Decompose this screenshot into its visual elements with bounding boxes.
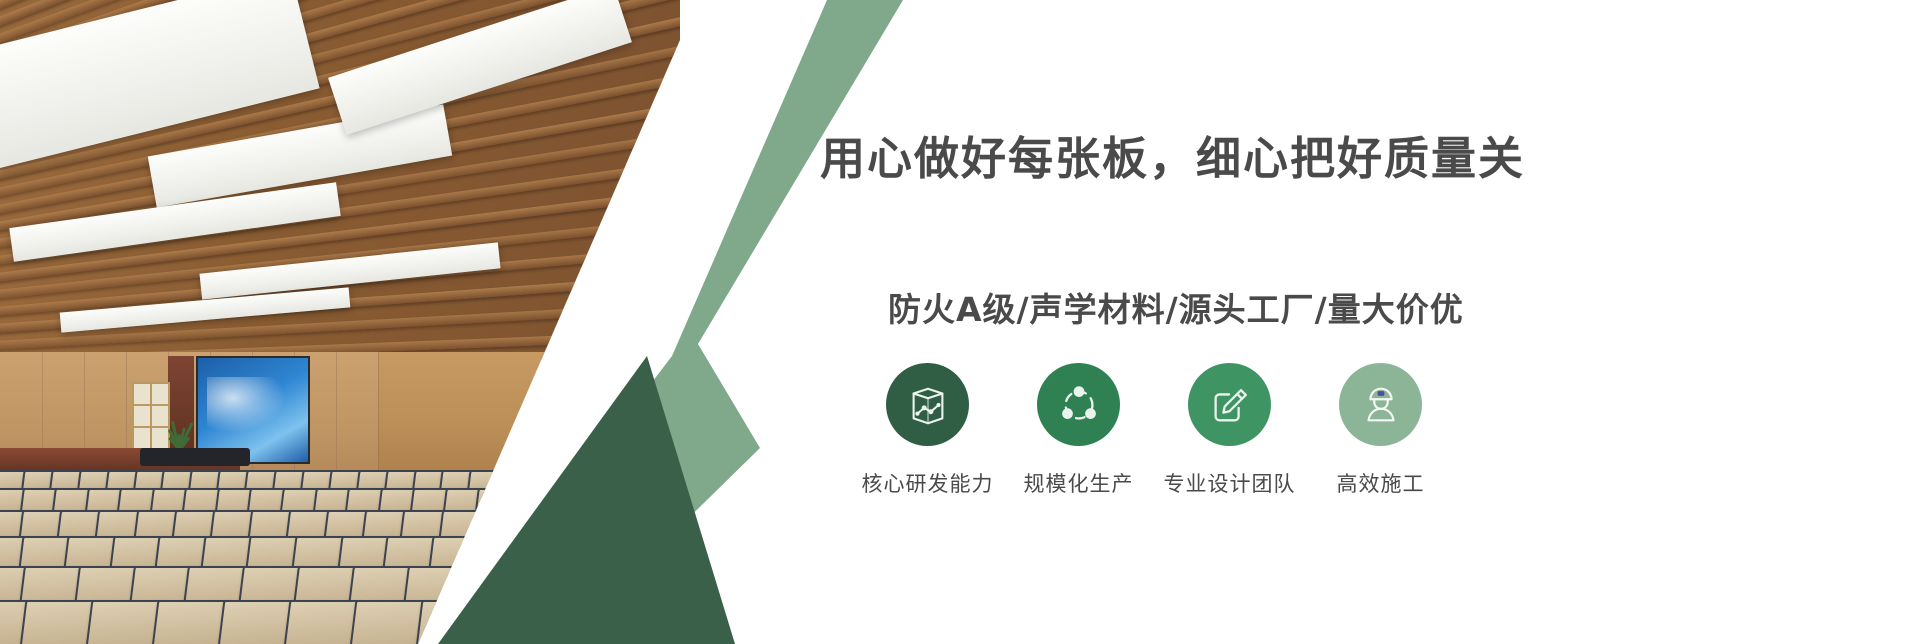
stage-plant bbox=[166, 420, 194, 450]
feature-item-efficient-construction[interactable]: 高效施工 bbox=[1305, 363, 1456, 498]
share-network-icon bbox=[1056, 382, 1102, 428]
ceiling-wood-slats bbox=[0, 0, 680, 360]
banner-headline: 用心做好每张板，细心把好质量关 bbox=[820, 122, 1525, 187]
side-door bbox=[132, 382, 170, 452]
feature-list: 核心研发能力 规模化生产 bbox=[852, 363, 1456, 498]
cube-analytics-icon bbox=[905, 382, 951, 428]
auditorium-seat bbox=[495, 470, 532, 496]
feature-label-2: 规模化生产 bbox=[1024, 468, 1134, 498]
banner-content: 用心做好每张板，细心把好质量关 防火A级/声学材料/源头工厂/量大价优 bbox=[820, 0, 1920, 644]
feature-item-core-rd[interactable]: 核心研发能力 bbox=[852, 363, 1003, 498]
feature-item-design-team[interactable]: 专业设计团队 bbox=[1154, 363, 1305, 498]
feature-icon-circle-4 bbox=[1339, 363, 1422, 446]
banner-subheadline: 防火A级/声学材料/源头工厂/量大价优 bbox=[888, 283, 1464, 331]
feature-icon-circle-3 bbox=[1188, 363, 1271, 446]
hardhat-worker-icon bbox=[1358, 382, 1404, 428]
pencil-square-icon bbox=[1207, 382, 1253, 428]
feature-label-3: 专业设计团队 bbox=[1164, 468, 1296, 498]
auditorium-seat bbox=[474, 488, 517, 518]
feature-item-scale-production[interactable]: 规模化生产 bbox=[1003, 363, 1154, 498]
stage-chairs bbox=[140, 448, 250, 466]
feature-icon-circle-2 bbox=[1037, 363, 1120, 446]
feature-label-1: 核心研发能力 bbox=[862, 468, 994, 498]
promo-banner: 用心做好每张板，细心把好质量关 防火A级/声学材料/源头工厂/量大价优 bbox=[0, 0, 1920, 644]
feature-label-4: 高效施工 bbox=[1337, 468, 1425, 498]
feature-icon-circle-1 bbox=[886, 363, 969, 446]
